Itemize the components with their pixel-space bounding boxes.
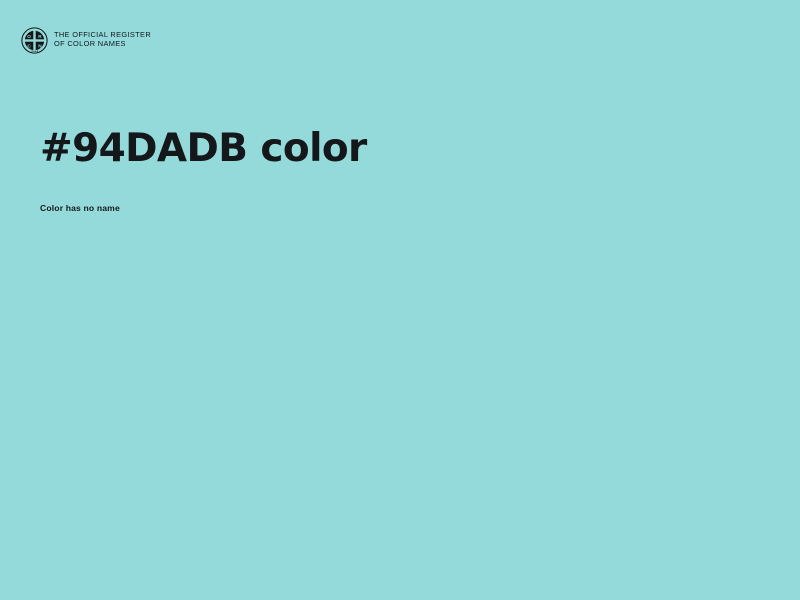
color-info-block: #94DADB color Color has no name — [40, 126, 760, 214]
color-page: O R C N THE OFFICIAL REGISTER OF COLOR N… — [0, 0, 800, 600]
color-name-status: Color has no name — [40, 172, 760, 214]
masthead-line-2: OF COLOR NAMES — [54, 39, 151, 48]
masthead-brand-lockup[interactable]: O R C N THE OFFICIAL REGISTER OF COLOR N… — [21, 27, 151, 54]
masthead-line-1: THE OFFICIAL REGISTER — [54, 30, 151, 39]
masthead-title: THE OFFICIAL REGISTER OF COLOR NAMES — [54, 27, 151, 48]
page-title: #94DADB color — [40, 126, 760, 172]
svg-text:O: O — [27, 34, 31, 39]
official-register-seal-icon: O R C N — [21, 27, 48, 54]
